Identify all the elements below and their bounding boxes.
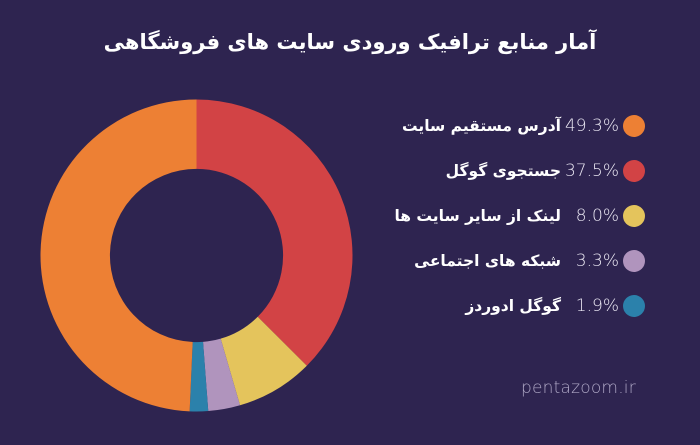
legend-item-value: 8.0% — [561, 206, 623, 226]
legend-color-swatch-icon — [623, 295, 645, 317]
legend-item-value: 3.3% — [561, 251, 623, 271]
legend-color-swatch-icon — [623, 250, 645, 272]
legend-item-value: 37.5% — [561, 161, 623, 181]
legend-color-swatch-icon — [623, 160, 645, 182]
donut-slice[interactable] — [197, 100, 353, 366]
legend-item[interactable]: آدرس مستقیم سایت49.3% — [395, 103, 680, 148]
legend-item-label: گوگل ادوردز — [395, 297, 561, 315]
watermark: pentazoom.ir — [521, 378, 636, 398]
legend-color-swatch-icon — [623, 205, 645, 227]
legend-item[interactable]: شبکه های اجتماعی3.3% — [395, 238, 680, 283]
legend-item-label: لینک از سایر سایت ها — [395, 207, 561, 225]
donut-slice[interactable] — [40, 100, 196, 412]
legend-item-label: جستجوی گوگل — [395, 162, 561, 180]
donut-chart-svg — [40, 99, 353, 412]
donut-slice-group — [40, 100, 352, 412]
legend-color-swatch-icon — [623, 115, 645, 137]
legend-item-label: آدرس مستقیم سایت — [395, 117, 561, 135]
legend-item-value: 1.9% — [561, 296, 623, 316]
donut-chart — [40, 99, 353, 412]
chart-canvas: آمار منابع ترافیک ورودی سایت های فروشگاه… — [0, 0, 700, 445]
legend-item[interactable]: گوگل ادوردز1.9% — [395, 283, 680, 328]
legend-item-label: شبکه های اجتماعی — [395, 252, 561, 270]
legend-item[interactable]: لینک از سایر سایت ها8.0% — [395, 193, 680, 238]
page-title: آمار منابع ترافیک ورودی سایت های فروشگاه… — [0, 30, 700, 54]
legend-item[interactable]: جستجوی گوگل37.5% — [395, 148, 680, 193]
chart-legend: آدرس مستقیم سایت49.3%جستجوی گوگل37.5%لین… — [395, 103, 680, 328]
legend-item-value: 49.3% — [561, 116, 623, 136]
